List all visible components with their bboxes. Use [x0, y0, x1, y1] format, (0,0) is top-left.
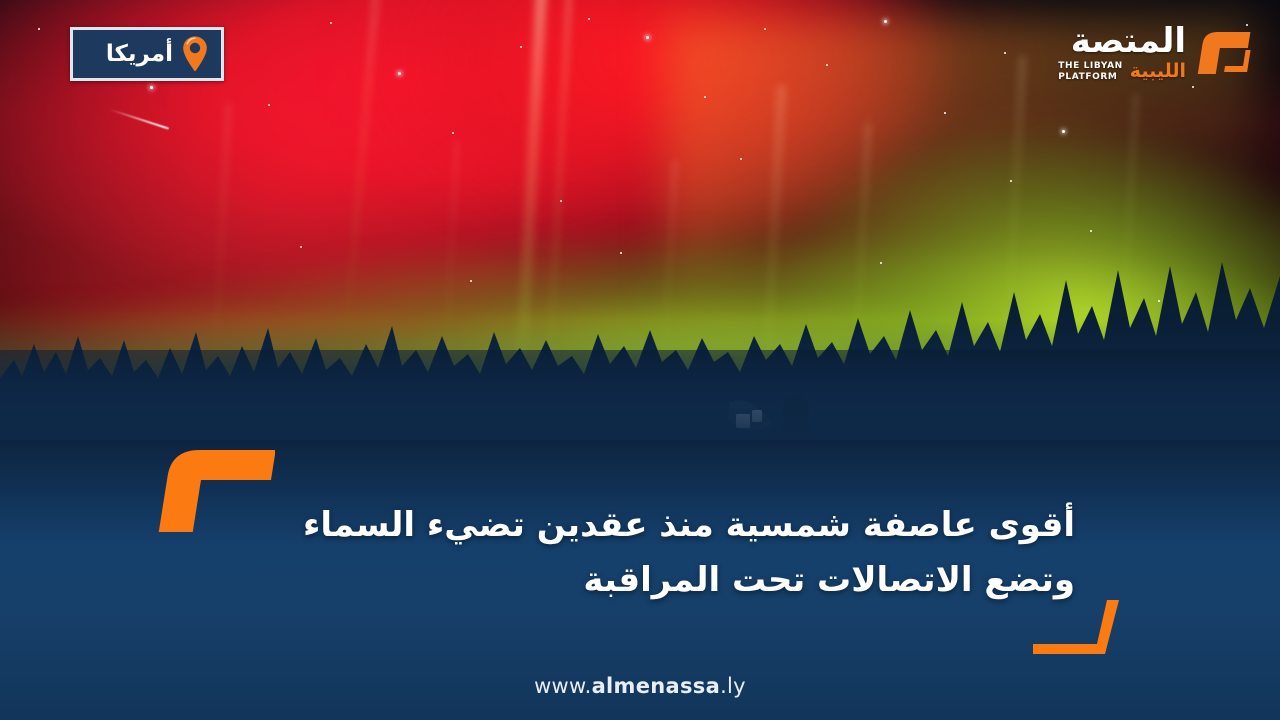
logo-arabic-main: المنصة — [1071, 24, 1186, 58]
brand-logo[interactable]: المنصة THE LIBYANPLATFORM الليبية — [1058, 14, 1258, 92]
logo-text-group: المنصة THE LIBYANPLATFORM الليبية — [1058, 24, 1186, 82]
logo-arabic-sub: الليبية — [1130, 62, 1186, 81]
headline-text: أقوى عاصفة شمسية منذ عقدين تضيء السماء و… — [275, 498, 1075, 608]
badge-label: أمريكا — [106, 43, 173, 66]
footer-url[interactable]: www.almenassa.ly — [0, 674, 1280, 698]
url-name: almenassa — [592, 674, 721, 698]
location-badge[interactable]: أمريكا — [70, 27, 224, 81]
location-pin-icon — [181, 35, 209, 73]
logo-english: THE LIBYANPLATFORM — [1058, 61, 1123, 82]
logo-bracket-mark — [1196, 22, 1258, 84]
url-prefix: www. — [534, 674, 591, 698]
url-tld: .ly — [720, 674, 746, 698]
orange-bracket-top-left — [155, 442, 275, 534]
news-card: أمريكا المنصة THE LIBYANPLATFORM الليبية — [0, 0, 1280, 720]
